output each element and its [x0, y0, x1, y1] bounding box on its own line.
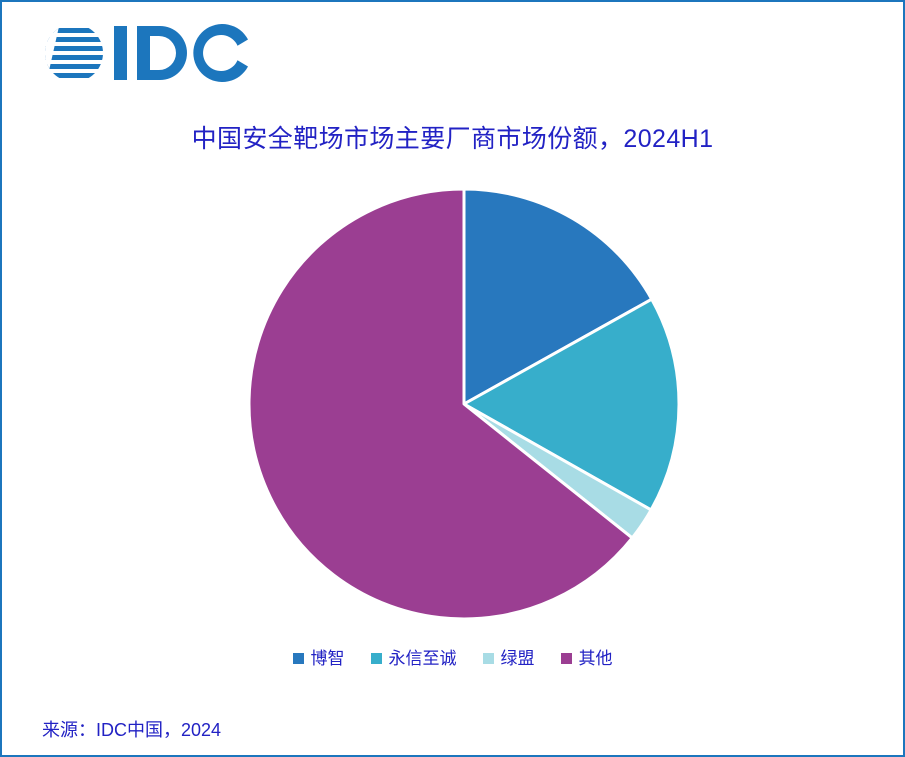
idc-logo: [44, 22, 249, 84]
pie-slice-group: [249, 189, 679, 619]
pie-slice-2[interactable]: [464, 404, 651, 538]
pie-slice-1[interactable]: [464, 299, 679, 510]
legend-item-2[interactable]: 绿盟: [483, 650, 535, 667]
page-title: 中国安全靶场市场主要厂商市场份额，2024H1: [2, 119, 903, 155]
legend-label-0: 博智: [311, 650, 345, 667]
legend-label-1: 永信至诚: [389, 650, 457, 667]
chart-canvas: 中国安全靶场市场主要厂商市场份额，2024H1 博智 永信至诚 绿盟 其他 来源…: [0, 0, 905, 757]
legend-swatch-3: [561, 653, 572, 664]
legend-item-3[interactable]: 其他: [561, 650, 613, 667]
legend-swatch-1: [371, 653, 382, 664]
legend-item-1[interactable]: 永信至诚: [371, 650, 457, 667]
pie-slice-3[interactable]: [249, 189, 632, 619]
legend-item-0[interactable]: 博智: [293, 650, 345, 667]
legend-swatch-0: [293, 653, 304, 664]
idc-globe-icon: [44, 22, 108, 84]
legend-label-3: 其他: [579, 650, 613, 667]
chart-legend: 博智 永信至诚 绿盟 其他: [2, 650, 903, 667]
legend-swatch-2: [483, 653, 494, 664]
source-note: 来源：IDC中国，2024: [42, 716, 221, 742]
pie-slice-0[interactable]: [464, 189, 652, 404]
idc-wordmark: [114, 24, 248, 82]
idc-logo-svg: [44, 22, 249, 84]
legend-label-2: 绿盟: [501, 650, 535, 667]
pie-chart: [2, 2, 905, 757]
pie-chart-svg: [2, 2, 905, 757]
